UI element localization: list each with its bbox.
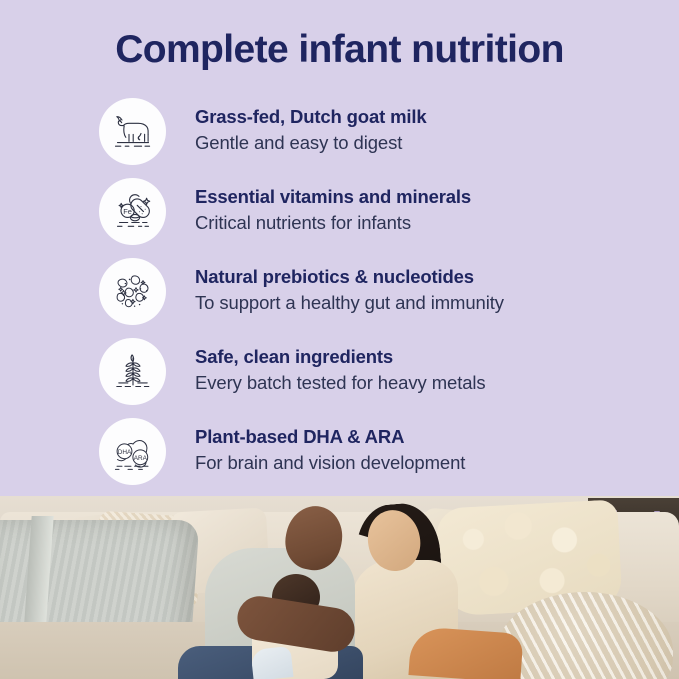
svg-text:ARA: ARA <box>133 454 147 461</box>
benefit-subtitle: To support a healthy gut and immunity <box>195 291 665 316</box>
photo-scene <box>0 496 679 679</box>
benefit-item-prebiotics: Natural prebiotics & nucleotides To supp… <box>0 256 679 336</box>
benefit-list: Grass-fed, Dutch goat milk Gentle and ea… <box>0 96 679 496</box>
benefit-subtitle: Critical nutrients for infants <box>195 211 665 236</box>
benefit-text-block: Grass-fed, Dutch goat milk Gentle and ea… <box>195 105 665 156</box>
benefit-text-block: Essential vitamins and minerals Critical… <box>195 185 665 236</box>
benefit-item-goat-milk: Grass-fed, Dutch goat milk Gentle and ea… <box>0 96 679 176</box>
benefit-title: Safe, clean ingredients <box>195 345 665 370</box>
goat-icon <box>99 98 166 165</box>
benefit-item-clean-ingredients: Safe, clean ingredients Every batch test… <box>0 336 679 416</box>
benefit-item-dha-ara: DHA ARA Plant-based DHA & ARA For brain … <box>0 416 679 496</box>
svg-text:Fe: Fe <box>123 206 132 215</box>
vitamin-capsules-iron-icon: Fe <box>99 178 166 245</box>
svg-text:DHA: DHA <box>117 448 131 455</box>
benefit-text-block: Plant-based DHA & ARA For brain and visi… <box>195 425 665 476</box>
photo-mother-pants <box>408 626 523 679</box>
probiotic-bacteria-icon <box>99 258 166 325</box>
benefit-title: Plant-based DHA & ARA <box>195 425 665 450</box>
wheat-stalk-icon <box>99 338 166 405</box>
benefit-subtitle: Every batch tested for heavy metals <box>195 371 665 396</box>
infographic-panel: Complete infant nutrition <box>0 0 679 679</box>
benefit-subtitle: Gentle and easy to digest <box>195 131 665 156</box>
family-lifestyle-photo <box>0 496 679 679</box>
benefit-text-block: Safe, clean ingredients Every batch test… <box>195 345 665 396</box>
benefit-title: Essential vitamins and minerals <box>195 185 665 210</box>
page-title: Complete infant nutrition <box>0 27 679 74</box>
benefit-subtitle: For brain and vision development <box>195 451 665 476</box>
benefit-title: Natural prebiotics & nucleotides <box>195 265 665 290</box>
benefit-title: Grass-fed, Dutch goat milk <box>195 105 665 130</box>
benefit-text-block: Natural prebiotics & nucleotides To supp… <box>195 265 665 316</box>
benefit-item-vitamins: Fe Essential vitamins and minerals Criti… <box>0 176 679 256</box>
dha-ara-molecule-icon: DHA ARA <box>99 418 166 485</box>
